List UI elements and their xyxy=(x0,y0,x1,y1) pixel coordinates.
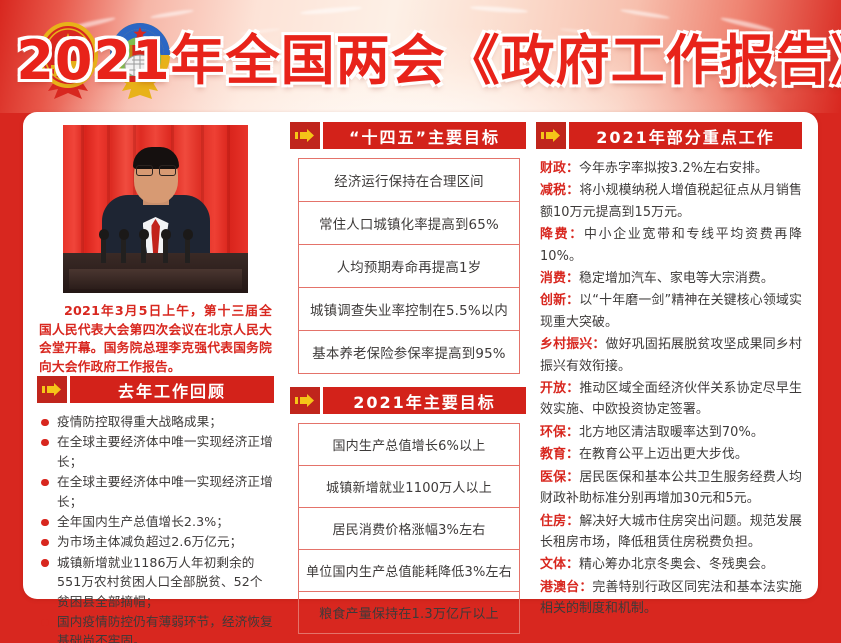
list-item: 在全球主要经济体中唯一实现经济正增长； xyxy=(40,432,274,471)
header-banner: 2021年全国两会《政府工作报告》要点 xyxy=(0,0,841,113)
key-work-list: 财政：今年赤字率拟按3.2%左右安排。 减税：将小规模纳税人增值税起征点从月销售… xyxy=(540,158,802,620)
glasses-icon xyxy=(136,165,176,175)
section-header-review: 去年工作回顾 xyxy=(37,376,274,403)
entry-text: 精心筹办北京冬奥会、冬残奥会。 xyxy=(579,557,774,572)
key-work-entry: 港澳台：完善特别行政区同宪法和基本法实施相关的制度和机制。 xyxy=(540,577,802,620)
list-item: 城镇新增就业1186万人年初剩余的551万农村贫困人口全部脱贫、52个贫困县全部… xyxy=(40,553,274,611)
key-work-entry: 减税：将小规模纳税人增值税起征点从月销售额10万元提高到15万元。 xyxy=(540,180,802,223)
left-column: 2021年3月5日上午，第十三届全国人民代表大会第四次会议在北京人民大会堂开幕。… xyxy=(23,112,286,599)
entry-text: 解决好大城市住房突出问题。规范发展长租房市场，降低租赁住房税费负担。 xyxy=(540,514,802,550)
table-row: 基本养老保险参保率提高到95% xyxy=(299,331,519,374)
key-work-entry: 住房：解决好大城市住房突出问题。规范发展长租房市场，降低租赁住房税费负担。 xyxy=(540,511,802,554)
table-row: 城镇新增就业1100万人以上 xyxy=(299,466,519,508)
key-work-entry: 环保：北方地区清洁取暖率达到70%。 xyxy=(540,422,802,443)
table-row: 城镇调查失业率控制在5.5%以内 xyxy=(299,288,519,331)
premier-photo xyxy=(63,125,248,293)
entry-label: 医保： xyxy=(540,470,579,485)
section-header-plan-goals: “十四五”主要目标 xyxy=(290,122,526,149)
right-column: 2021年部分重点工作 财政：今年赤字率拟按3.2%左右安排。 减税：将小规模纳… xyxy=(532,112,818,599)
section-title-plan-goals: “十四五”主要目标 xyxy=(323,122,526,149)
section-title-review: 去年工作回顾 xyxy=(70,376,274,403)
entry-text: 以“十年磨一剑”精神在关键核心领域实现重大突破。 xyxy=(540,293,802,329)
entry-label: 创新： xyxy=(540,293,579,308)
entry-text: 居民医保和基本公共卫生服务经费人均财政补助标准分别再增加30元和5元。 xyxy=(540,470,802,506)
table-row: 常住人口城镇化率提高到65% xyxy=(299,202,519,245)
poster-root: 2021年全国两会《政府工作报告》要点 xyxy=(0,0,841,643)
key-work-entry: 文体：精心筹办北京冬奥会、冬残奥会。 xyxy=(540,554,802,575)
review-bullet-list: 疫情防控取得重大战略成果； 在全球主要经济体中唯一实现经济正增长； 在全球主要经… xyxy=(40,412,274,643)
page-title: 2021年全国两会《政府工作报告》要点 xyxy=(186,14,826,96)
entry-text: 将小规模纳税人增值税起征点从月销售额10万元提高到15万元。 xyxy=(540,183,802,219)
arrow-right-icon xyxy=(37,376,67,403)
year-goal-rows: 国内生产总值增长6%以上 城镇新增就业1100万人以上 居民消费价格涨幅3%左右… xyxy=(298,423,520,634)
key-work-entry: 降费：中小企业宽带和专线平均资费再降10%。 xyxy=(540,224,802,267)
plan-goal-rows: 经济运行保持在合理区间 常住人口城镇化率提高到65% 人均预期寿命再提高1岁 城… xyxy=(298,158,520,374)
key-work-entry: 财政：今年赤字率拟按3.2%左右安排。 xyxy=(540,158,802,179)
section-header-key-work: 2021年部分重点工作 xyxy=(536,122,802,149)
table-row: 经济运行保持在合理区间 xyxy=(299,159,519,202)
entry-label: 财政： xyxy=(540,161,579,176)
table-row: 国内生产总值增长6%以上 xyxy=(299,424,519,466)
section-title-key-work: 2021年部分重点工作 xyxy=(569,122,802,149)
key-work-entry: 乡村振兴：做好巩固拓展脱贫攻坚成果同乡村振兴有效衔接。 xyxy=(540,334,802,377)
section-header-year-goals: 2021年主要目标 xyxy=(290,387,526,414)
entry-label: 乡村振兴： xyxy=(540,337,606,352)
entry-label: 文体： xyxy=(540,557,579,572)
entry-text: 北方地区清洁取暖率达到70%。 xyxy=(579,425,764,440)
table-row: 人均预期寿命再提高1岁 xyxy=(299,245,519,288)
entry-text: 推动区域全面经济伙伴关系协定尽早生效实施、中欧投资协定签署。 xyxy=(540,381,802,417)
key-work-entry: 消费：稳定增加汽车、家电等大宗消费。 xyxy=(540,268,802,289)
table-row: 居民消费价格涨幅3%左右 xyxy=(299,508,519,550)
table-row: 粮食产量保持在1.3万亿斤以上 xyxy=(299,592,519,634)
key-work-entry: 医保：居民医保和基本公共卫生服务经费人均财政补助标准分别再增加30元和5元。 xyxy=(540,467,802,510)
photo-caption: 2021年3月5日上午，第十三届全国人民代表大会第四次会议在北京人民大会堂开幕。… xyxy=(39,302,272,376)
entry-label: 降费： xyxy=(540,227,584,242)
entry-label: 开放： xyxy=(540,381,579,396)
entry-text: 在教育公平上迈出更大步伐。 xyxy=(579,447,748,462)
entry-label: 教育： xyxy=(540,447,579,462)
list-item: 疫情防控取得重大战略成果； xyxy=(40,412,274,431)
entry-label: 港澳台： xyxy=(540,580,592,595)
key-work-entry: 创新：以“十年磨一剑”精神在关键核心领域实现重大突破。 xyxy=(540,290,802,333)
entry-label: 减税： xyxy=(540,183,579,198)
entry-text: 稳定增加汽车、家电等大宗消费。 xyxy=(579,271,774,286)
list-item: 为市场主体减负超过2.6万亿元； xyxy=(40,532,274,551)
table-row: 单位国内生产总值能耗降低3%左右 xyxy=(299,550,519,592)
arrow-right-icon xyxy=(290,387,320,414)
entry-label: 住房： xyxy=(540,514,579,529)
key-work-entry: 教育：在教育公平上迈出更大步伐。 xyxy=(540,444,802,465)
middle-column: “十四五”主要目标 经济运行保持在合理区间 常住人口城镇化率提高到65% 人均预… xyxy=(286,112,532,599)
list-item: 全年国内生产总值增长2.3%； xyxy=(40,512,274,531)
entry-text: 今年赤字率拟按3.2%左右安排。 xyxy=(579,161,768,176)
key-work-entry: 开放：推动区域全面经济伙伴关系协定尽早生效实施、中欧投资协定签署。 xyxy=(540,378,802,421)
entry-label: 环保： xyxy=(540,425,579,440)
light-ray-decor xyxy=(470,5,528,14)
list-item: 在全球主要经济体中唯一实现经济正增长； xyxy=(40,472,274,511)
entry-label: 消费： xyxy=(540,271,579,286)
arrow-right-icon xyxy=(536,122,566,149)
section-title-year-goals: 2021年主要目标 xyxy=(323,387,526,414)
content-panel: 2021年3月5日上午，第十三届全国人民代表大会第四次会议在北京人民大会堂开幕。… xyxy=(23,112,818,599)
arrow-right-icon xyxy=(290,122,320,149)
list-item: 国内疫情防控仍有薄弱环节，经济恢复基础尚不牢固。 xyxy=(40,612,274,643)
